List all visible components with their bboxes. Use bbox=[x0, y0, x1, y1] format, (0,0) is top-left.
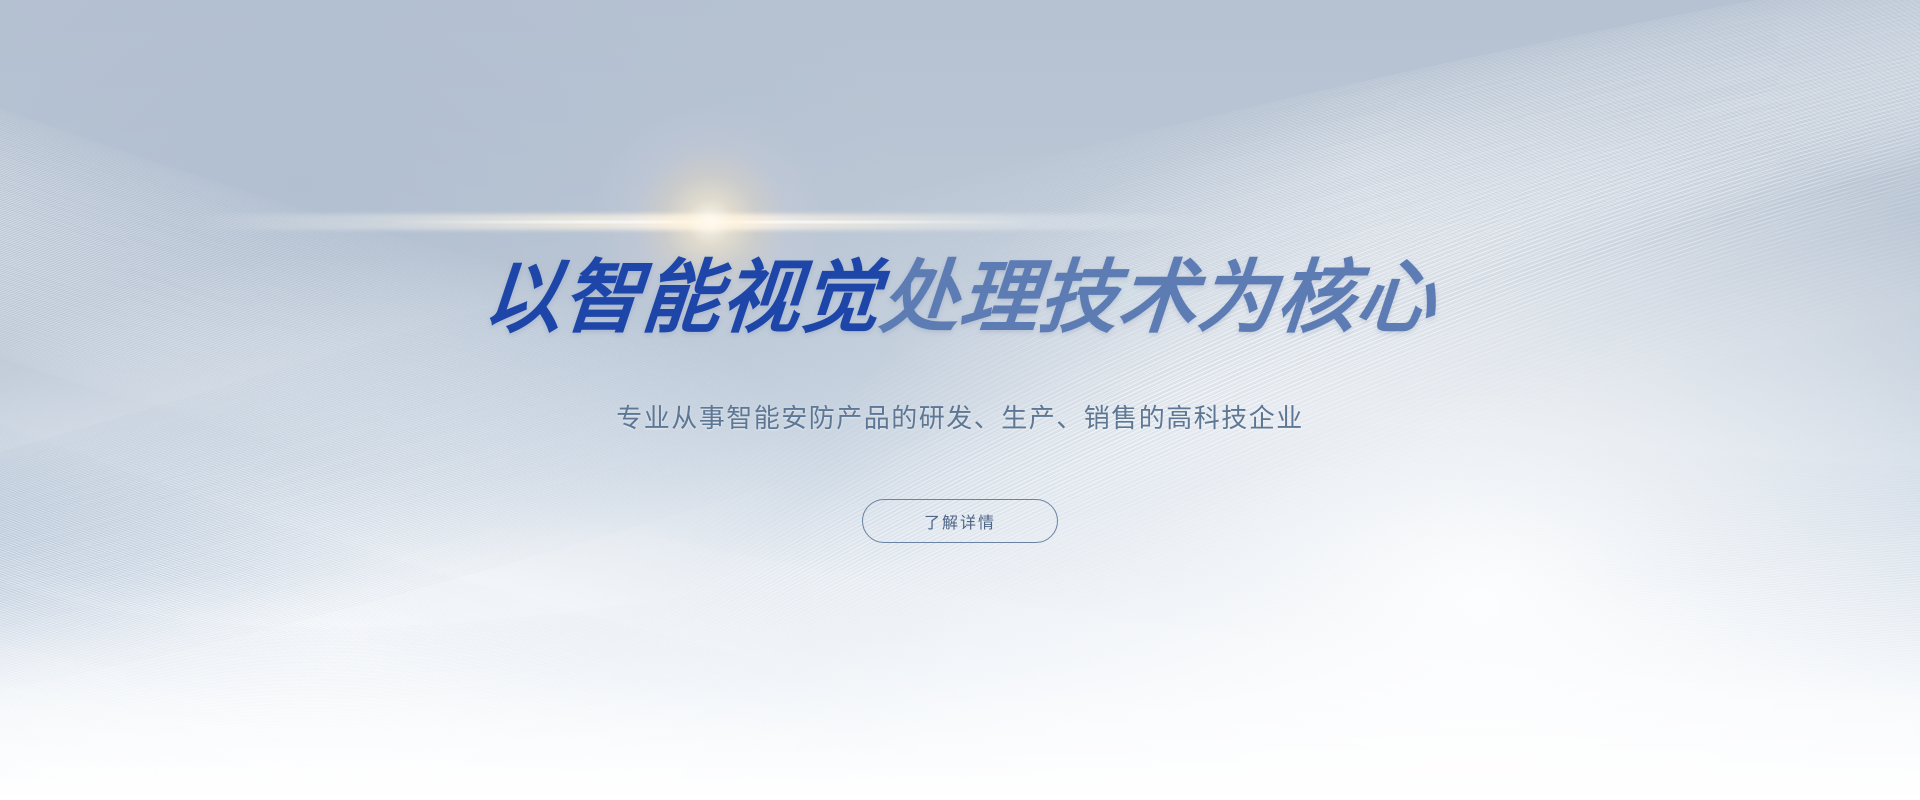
hero-headline: 以智能视觉处理技术为核心 bbox=[480, 258, 1440, 338]
headline-segment-secondary: 处理技术为核心 bbox=[877, 251, 1441, 344]
hero-content: 以智能视觉处理技术为核心 专业从事智能安防产品的研发、生产、销售的高科技企业 了… bbox=[0, 0, 1920, 800]
hero-banner: 以智能视觉处理技术为核心 专业从事智能安防产品的研发、生产、销售的高科技企业 了… bbox=[0, 0, 1920, 800]
headline-segment-primary: 以智能视觉 bbox=[480, 251, 885, 344]
learn-more-button[interactable]: 了解详情 bbox=[862, 499, 1058, 543]
hero-subtitle: 专业从事智能安防产品的研发、生产、销售的高科技企业 bbox=[616, 338, 1304, 435]
